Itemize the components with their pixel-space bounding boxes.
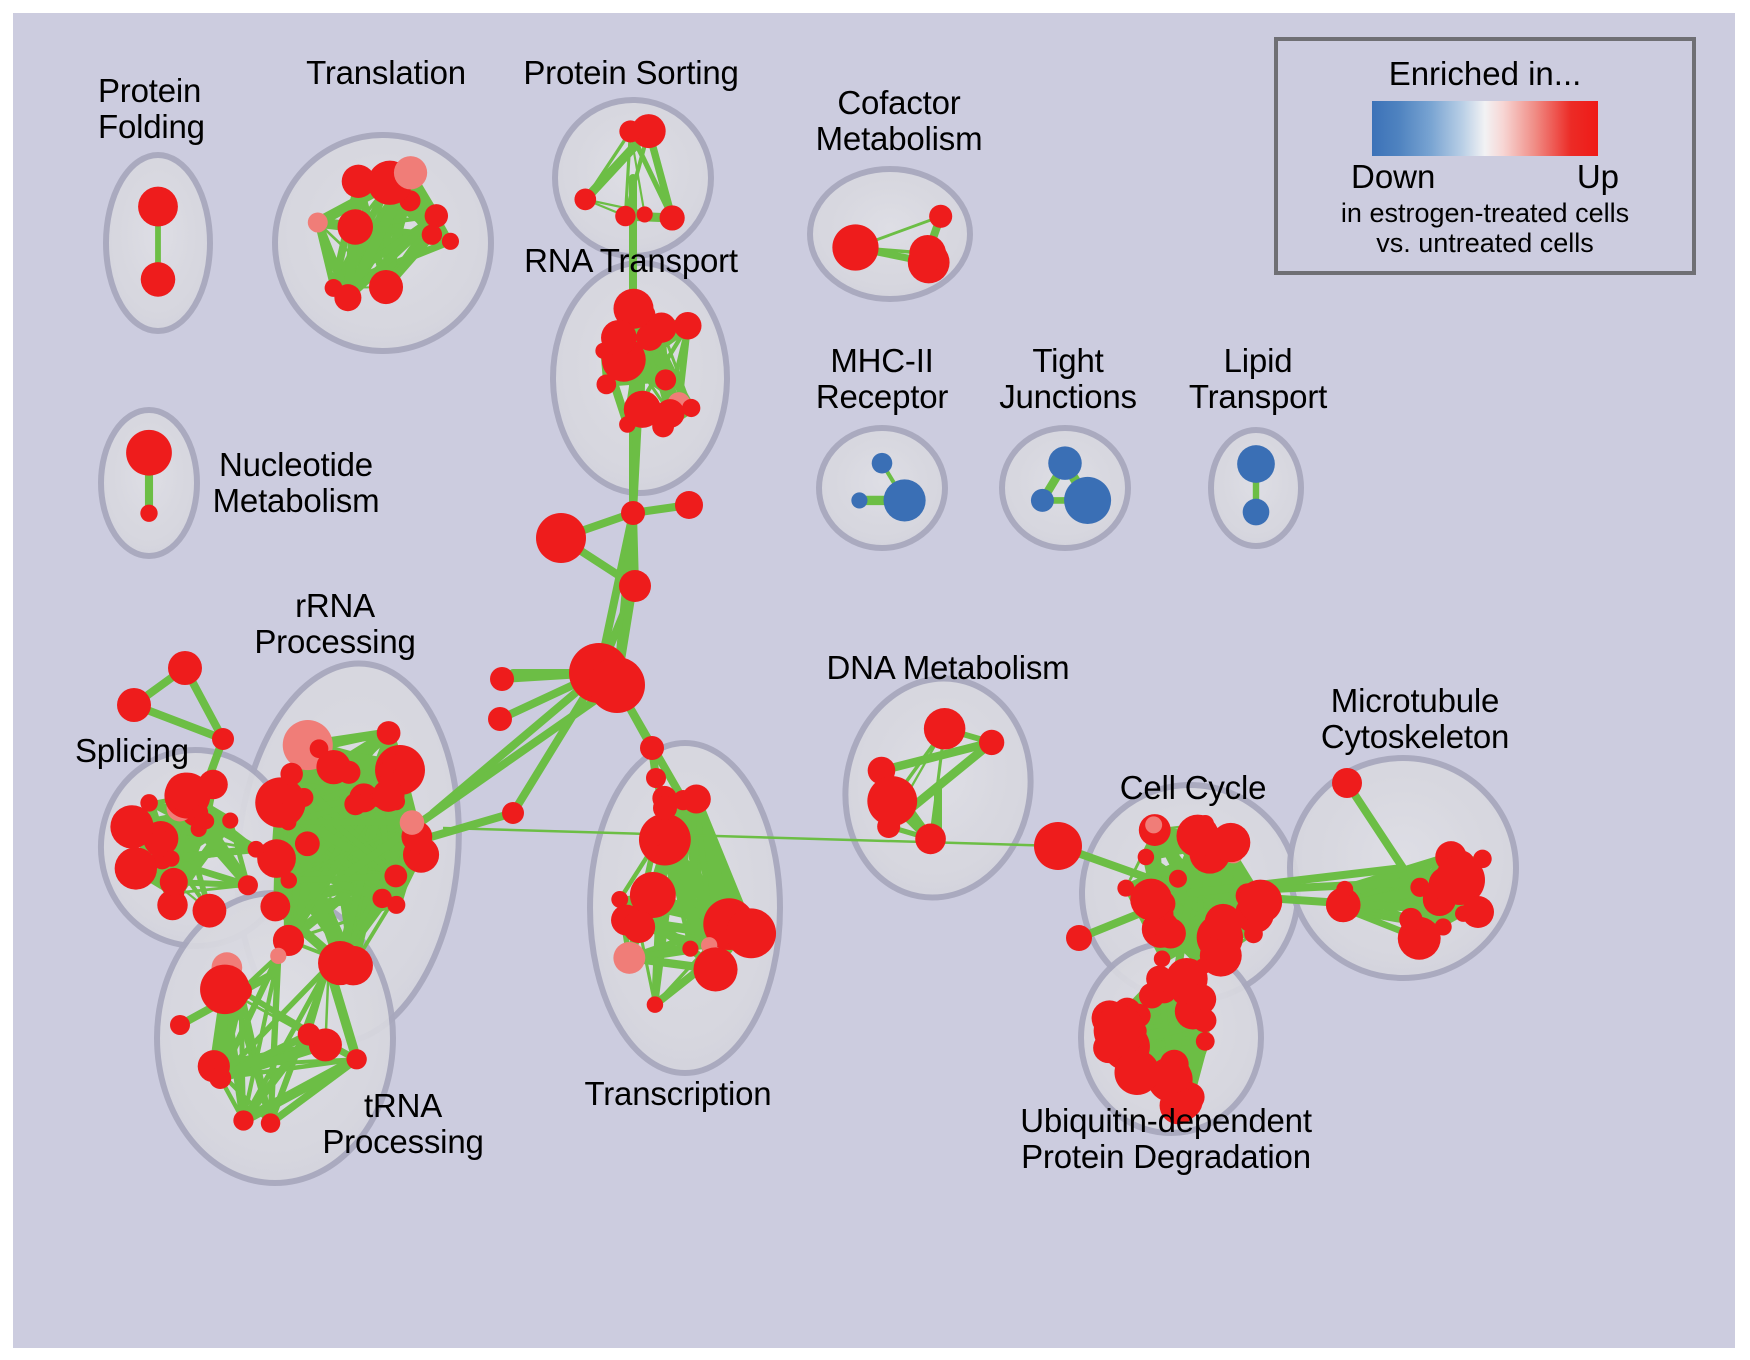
gene-set-node [832, 224, 878, 270]
gene-set-node [334, 284, 361, 311]
cluster-label-splicing: Splicing [75, 733, 189, 769]
cluster-hull-tight-junctions [1002, 428, 1128, 548]
gene-set-node [408, 853, 424, 869]
gene-set-node [422, 224, 442, 244]
gene-set-node [233, 1110, 253, 1130]
gene-set-node [248, 841, 265, 858]
gene-set-node [1176, 815, 1218, 857]
gene-set-node [1138, 849, 1154, 865]
gene-set-node [1172, 984, 1192, 1004]
gene-set-node [1146, 966, 1172, 992]
gene-set-node [425, 204, 448, 227]
gene-set-node [595, 343, 611, 359]
legend-subtitle-line-1: in estrogen-treated cells [1341, 198, 1629, 228]
gene-set-node [260, 892, 290, 922]
gene-set-node [656, 399, 685, 428]
gene-set-node [872, 453, 893, 474]
cluster-label-microtubule: Microtubule Cytoskeleton [1321, 683, 1509, 754]
gene-set-node [209, 1067, 231, 1089]
gene-set-node [110, 805, 153, 848]
gene-set-node [212, 728, 234, 750]
gene-set-node [384, 865, 407, 888]
gene-set-node [308, 213, 328, 233]
gene-set-node [1237, 445, 1275, 483]
gene-set-node [369, 270, 403, 304]
gene-set-node [344, 793, 366, 815]
gene-set-node [1244, 925, 1263, 944]
cluster-label-protein-sorting: Protein Sorting [523, 55, 738, 91]
gene-set-node [230, 980, 252, 1002]
gene-set-node [141, 262, 176, 297]
gene-set-node [298, 1023, 321, 1046]
gene-set-node [682, 941, 698, 957]
gene-set-node [1332, 768, 1362, 798]
gene-set-node [160, 868, 188, 896]
gene-set-node [163, 850, 179, 866]
gene-set-node [1145, 816, 1162, 833]
gene-set-node [589, 657, 645, 713]
gene-set-node [280, 814, 296, 830]
gene-set-node [915, 824, 946, 855]
gene-set-node [126, 430, 172, 476]
gene-set-node [536, 513, 586, 563]
gene-set-node [1410, 878, 1429, 897]
cluster-label-tight-junctions: Tight Junctions [999, 343, 1137, 414]
gene-set-node [1154, 1056, 1191, 1093]
gene-set-node [295, 831, 320, 856]
gene-set-node [615, 206, 635, 226]
gene-set-node [909, 235, 946, 272]
cluster-label-translation: Translation [306, 55, 466, 91]
gene-set-node [394, 156, 427, 189]
legend-subtitle-line-2: vs. untreated cells [1341, 228, 1629, 258]
gene-set-node [166, 773, 205, 812]
gene-set-node [682, 399, 700, 417]
legend-box: Enriched in... Down Up in estrogen-treat… [1274, 37, 1696, 275]
gene-set-node [660, 205, 685, 230]
gene-set-node [647, 996, 663, 1012]
gene-set-node [1238, 880, 1282, 924]
cluster-label-rrna: rRNA Processing [254, 588, 415, 659]
gene-set-node [619, 120, 641, 142]
gene-set-node [1399, 908, 1422, 931]
legend-high-label: Up [1577, 158, 1619, 196]
legend-title: Enriched in... [1389, 55, 1582, 93]
gene-set-node [682, 785, 711, 814]
edge [289, 876, 396, 880]
gene-set-node [490, 667, 514, 691]
gene-set-node [280, 763, 303, 786]
gene-set-node [1462, 896, 1494, 928]
gene-set-node [168, 651, 202, 685]
gene-set-node [346, 1049, 366, 1069]
gene-set-node [884, 479, 926, 521]
gene-set-node [400, 810, 425, 835]
gene-set-node [655, 369, 676, 390]
gene-set-node [1130, 879, 1172, 921]
gene-set-node [624, 391, 661, 428]
gene-set-node [372, 780, 404, 812]
gene-set-node [502, 802, 524, 824]
gene-set-node [653, 796, 677, 820]
gene-set-node [1435, 918, 1452, 935]
gene-set-node [319, 956, 339, 976]
cluster-label-ubiquitin: Ubiquitin-dependent Protein Degradation [1020, 1103, 1312, 1174]
gene-set-node [383, 753, 400, 770]
gene-set-node [1193, 1009, 1217, 1033]
gene-set-node [1066, 925, 1092, 951]
gene-set-node [1243, 499, 1270, 526]
gene-set-node [574, 189, 596, 211]
gene-set-node [387, 896, 405, 914]
gene-set-node [294, 788, 313, 807]
gene-set-node [193, 894, 227, 928]
gene-set-node [1114, 1050, 1159, 1095]
gene-set-node [337, 761, 360, 784]
gene-set-node [693, 947, 737, 991]
gene-set-node [924, 708, 966, 750]
gene-set-node [140, 505, 157, 522]
gene-set-node [979, 730, 1004, 755]
legend-subtitle: in estrogen-treated cells vs. untreated … [1341, 198, 1629, 258]
gene-set-node [1205, 904, 1242, 941]
cluster-label-rna-transport: RNA Transport [524, 243, 738, 279]
cluster-label-dna-metabolism: DNA Metabolism [827, 650, 1070, 686]
gene-set-node [597, 375, 617, 395]
gene-set-node [488, 707, 512, 731]
gene-set-node [1034, 822, 1082, 870]
gene-set-node [733, 929, 749, 945]
gene-set-node [117, 688, 151, 722]
gene-set-node [1048, 446, 1082, 480]
gene-set-node [623, 911, 655, 943]
cluster-label-cofactor: Cofactor Metabolism [816, 85, 983, 156]
gene-set-node [646, 768, 666, 788]
legend-low-label: Down [1351, 158, 1435, 196]
cluster-label-lipid-transport: Lipid Transport [1189, 343, 1327, 414]
gene-set-node [867, 776, 917, 826]
cluster-label-mhc-ii: MHC-II Receptor [816, 343, 948, 414]
cluster-label-protein-folding: Protein Folding [98, 73, 205, 144]
gene-set-node [337, 209, 373, 245]
gene-set-node [674, 312, 702, 340]
gene-set-node [654, 844, 675, 865]
gene-set-node [1196, 1032, 1215, 1051]
figure-canvas: Protein FoldingTranslationProtein Sortin… [0, 0, 1750, 1360]
gene-set-node [1031, 489, 1054, 512]
gene-set-node [613, 942, 645, 974]
gene-set-node [261, 1113, 280, 1132]
gene-set-node [1154, 951, 1171, 968]
gene-set-node [310, 739, 329, 758]
cluster-label-trna: tRNA Processing [322, 1088, 483, 1159]
gene-set-node [170, 1015, 190, 1035]
gene-set-node [1155, 918, 1186, 949]
gene-set-node [929, 205, 952, 228]
gene-set-node [851, 492, 867, 508]
gene-set-node [222, 813, 238, 829]
cluster-hull-mhc-ii [819, 428, 945, 548]
gene-set-node [619, 570, 651, 602]
legend-color-gradient-bar [1372, 101, 1598, 156]
gene-set-node [640, 736, 664, 760]
gene-set-node [637, 206, 653, 222]
gene-set-node [675, 491, 703, 519]
legend-endpoints: Down Up [1351, 158, 1619, 196]
gene-set-node [270, 948, 286, 964]
gene-set-node [442, 233, 459, 250]
gene-set-node [281, 872, 297, 888]
cluster-label-cell-cycle: Cell Cycle [1120, 770, 1267, 806]
gene-set-node [621, 501, 645, 525]
cluster-label-nucleotide: Nucleotide Metabolism [213, 447, 380, 518]
gene-set-node [238, 875, 258, 895]
gene-set-node [1169, 870, 1187, 888]
gene-set-node [342, 165, 375, 198]
gene-set-node [1064, 477, 1111, 524]
gene-set-node [1328, 893, 1357, 922]
gene-set-node [1093, 1032, 1124, 1063]
gene-set-node [377, 721, 401, 745]
gene-set-node [138, 187, 178, 227]
gene-set-node [198, 813, 214, 829]
cluster-label-transcription: Transcription [585, 1076, 772, 1112]
